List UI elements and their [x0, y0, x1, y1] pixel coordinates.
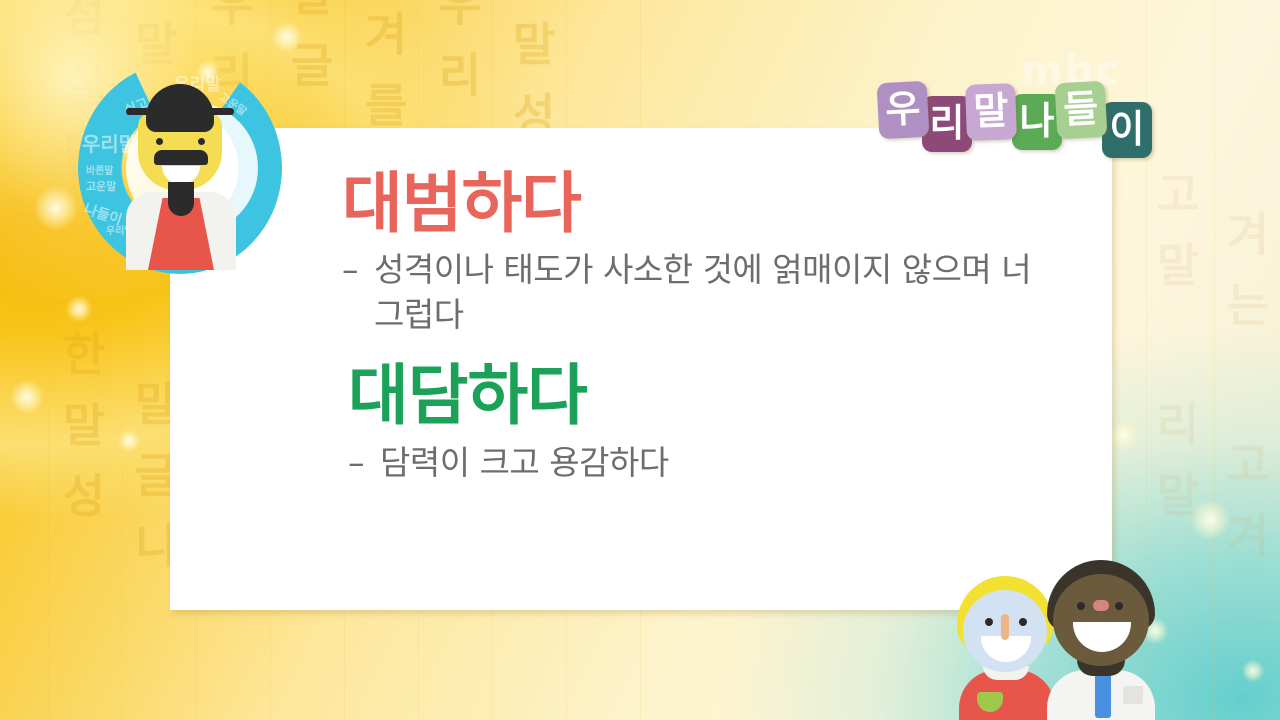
- gloss-primary: – 성격이나 태도가 사소한 것에 얽매이지 않으며 너그럽다: [342, 247, 1056, 338]
- emblem-word: 고운말: [86, 178, 116, 194]
- kid-mascot-dark: [1043, 560, 1159, 720]
- scholar-mascot: [120, 80, 240, 270]
- logo-chip: 리: [922, 96, 972, 152]
- program-emblem: 우리말 고운말 우리말 쉬고 바른말 고운말 나들이 우리말 바른말 우리글: [78, 62, 282, 274]
- gloss-text: 담력이 크고 용감하다: [380, 440, 669, 486]
- gloss-text: 성격이나 태도가 사소한 것에 얽매이지 않으며 너그럽다: [374, 247, 1056, 338]
- dash-marker: –: [342, 247, 358, 338]
- headword-primary: 대범하다: [342, 170, 1056, 239]
- logo-chip: 우: [877, 81, 930, 140]
- logo-chip: 말: [965, 83, 1017, 141]
- dash-marker: –: [348, 440, 364, 486]
- logo-chip: 이: [1102, 102, 1152, 158]
- gloss-secondary: – 담력이 크고 용감하다: [348, 440, 1056, 486]
- emblem-word: 바른말: [86, 162, 114, 177]
- program-logo: 우 리 말 나 들 이: [878, 82, 1152, 148]
- kid-mascots: [955, 524, 1165, 720]
- logo-chip: 들: [1055, 81, 1108, 140]
- dictionary-entry: 대담하다 – 담력이 크고 용감하다: [226, 362, 1056, 486]
- broadcast-screen: 점 실 말 말 겨 를 우 리 글 한 말 성 말 글 니 니 글 말 이 니 …: [0, 0, 1280, 720]
- logo-chip: 나: [1012, 94, 1062, 150]
- headword-secondary: 대담하다: [348, 362, 1056, 431]
- dictionary-entry: 대범하다 – 성격이나 태도가 사소한 것에 얽매이지 않으며 너그럽다: [226, 170, 1056, 338]
